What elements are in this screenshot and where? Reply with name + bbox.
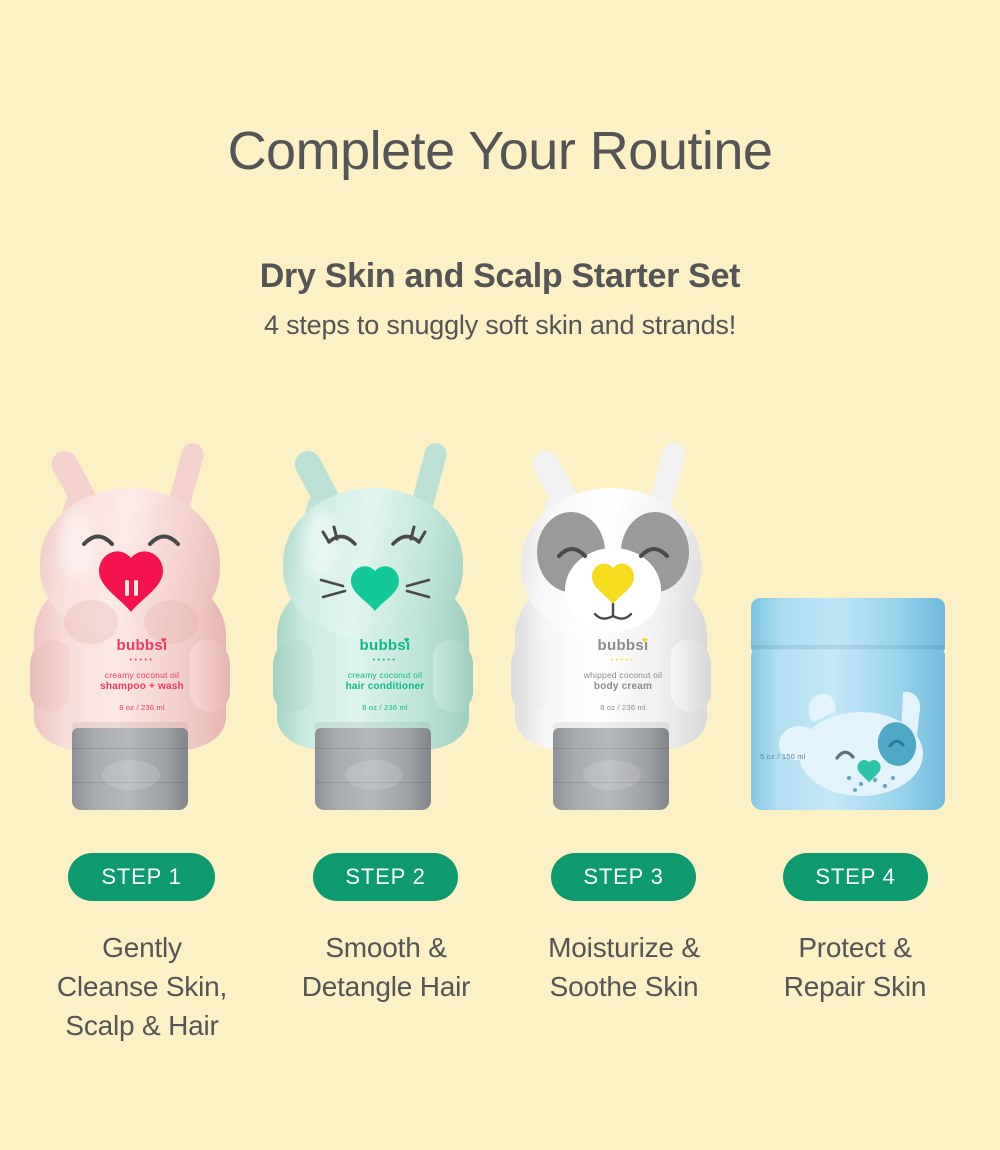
- bottle-cap[interactable]: [553, 728, 669, 810]
- puppy-illustration-icon: [751, 650, 945, 810]
- bottle-cap[interactable]: [72, 728, 188, 810]
- product-volume: 5 oz / 150 ml: [760, 752, 806, 761]
- step-caption-4: Protect &Repair Skin: [735, 928, 975, 1006]
- product-name: body cream: [503, 681, 743, 694]
- promo-page: Complete Your Routine Dry Skin and Scalp…: [0, 0, 1000, 1150]
- brand-heart-icon: ♥: [404, 635, 410, 646]
- set-subtitle: 4 steps to snuggly soft skin and strands…: [0, 310, 1000, 341]
- brand-name: bubbsi♥: [117, 637, 168, 656]
- jar-body: 5 oz / 150 ml: [751, 650, 945, 810]
- bottle-mint-cat: bubbsi♥ ••••• creamy coconut oil hair co…: [265, 440, 505, 810]
- label-dots: •••••: [22, 657, 262, 666]
- label-dots: •••••: [503, 657, 743, 666]
- product-descriptor: whipped coconut oil: [503, 670, 743, 681]
- product-volume: 8 oz / 236 ml: [22, 703, 262, 712]
- product-label: bubbsi♥ ••••• whipped coconut oil body c…: [503, 636, 743, 712]
- highlight: [303, 510, 337, 580]
- product-descriptor: creamy coconut oil: [22, 670, 262, 681]
- step-badge-1[interactable]: STEP 1: [68, 853, 215, 901]
- highlight: [60, 510, 94, 580]
- product-4-repair-balm[interactable]: 5 oz / 150 ml: [735, 440, 975, 810]
- step-badge-3[interactable]: STEP 3: [551, 853, 696, 901]
- jar-blue-puppy: 5 oz / 150 ml: [751, 598, 951, 810]
- brand-heart-icon: ♥: [161, 635, 167, 646]
- brand-name: bubbsi♥: [598, 637, 649, 656]
- brand-heart-icon: ♥: [642, 635, 648, 646]
- step-badge-4[interactable]: STEP 4: [783, 853, 928, 901]
- brand-name: bubbsi♥: [360, 637, 411, 656]
- product-name: shampoo + wash: [22, 681, 262, 694]
- jar-lid[interactable]: [751, 598, 945, 652]
- step-caption-2: Smooth &Detangle Hair: [265, 928, 507, 1006]
- bottle-cap[interactable]: [315, 728, 431, 810]
- product-label: bubbsi♥ ••••• creamy coconut oil shampoo…: [22, 636, 262, 712]
- product-2-hair-conditioner[interactable]: bubbsi♥ ••••• creamy coconut oil hair co…: [265, 440, 505, 810]
- product-row: bubbsi♥ ••••• creamy coconut oil shampoo…: [0, 440, 1000, 810]
- label-dots: •••••: [265, 657, 505, 666]
- bottle-white-panda: bubbsi♥ ••••• whipped coconut oil body c…: [503, 440, 743, 810]
- set-title: Dry Skin and Scalp Starter Set: [0, 257, 1000, 296]
- product-volume: 8 oz / 236 ml: [503, 703, 743, 712]
- product-name: hair conditioner: [265, 681, 505, 694]
- bottle-pink-bunny: bubbsi♥ ••••• creamy coconut oil shampoo…: [22, 440, 262, 810]
- product-1-shampoo-wash[interactable]: bubbsi♥ ••••• creamy coconut oil shampoo…: [22, 440, 262, 810]
- highlight: [541, 510, 575, 580]
- product-descriptor: creamy coconut oil: [265, 670, 505, 681]
- step-badge-row: STEP 1 STEP 2 STEP 3 STEP 4: [0, 853, 1000, 901]
- step-caption-3: Moisturize &Soothe Skin: [503, 928, 745, 1006]
- product-volume: 8 oz / 236 ml: [265, 703, 505, 712]
- page-title: Complete Your Routine: [0, 0, 1000, 181]
- product-3-body-cream[interactable]: bubbsi♥ ••••• whipped coconut oil body c…: [503, 440, 743, 810]
- product-label: bubbsi♥ ••••• creamy coconut oil hair co…: [265, 636, 505, 712]
- step-caption-1: GentlyCleanse Skin,Scalp & Hair: [22, 928, 262, 1045]
- step-badge-2[interactable]: STEP 2: [313, 853, 458, 901]
